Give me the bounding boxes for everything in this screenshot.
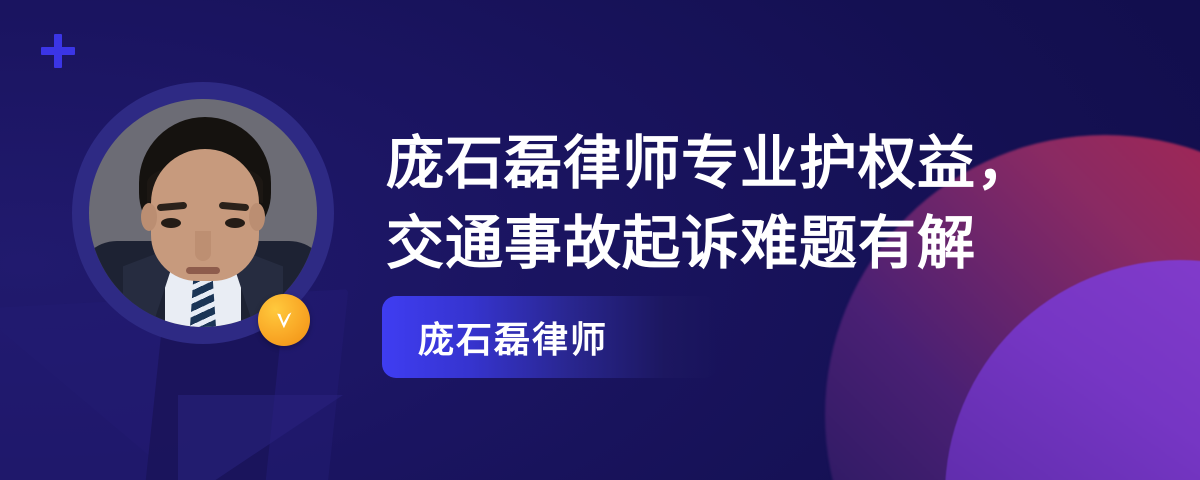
verified-v-icon: [258, 294, 310, 346]
decor-triangle-bottom: [178, 395, 343, 480]
avatar: [72, 82, 334, 344]
plus-icon: [41, 34, 75, 68]
page-title: 庞石磊律师专业护权益， 交通事故起诉难题有解: [386, 124, 1066, 284]
promo-banner: 庞石磊律师专业护权益， 交通事故起诉难题有解 庞石磊律师: [0, 0, 1200, 480]
portrait-face: [151, 149, 259, 281]
headline-line-2: 交通事故起诉难题有解: [386, 204, 1066, 284]
lawyer-name-label: 庞石磊律师: [382, 311, 608, 363]
headline-line-1: 庞石磊律师专业护权益，: [386, 124, 1066, 204]
portrait-eye-right: [225, 218, 245, 228]
lawyer-name-badge[interactable]: 庞石磊律师: [382, 296, 718, 378]
portrait-ear-left: [141, 203, 157, 231]
portrait-mouth: [186, 267, 220, 274]
portrait-ear-right: [249, 203, 265, 231]
portrait-eye-left: [161, 218, 181, 228]
avatar-photo: [89, 99, 317, 327]
portrait-nose: [195, 231, 211, 261]
